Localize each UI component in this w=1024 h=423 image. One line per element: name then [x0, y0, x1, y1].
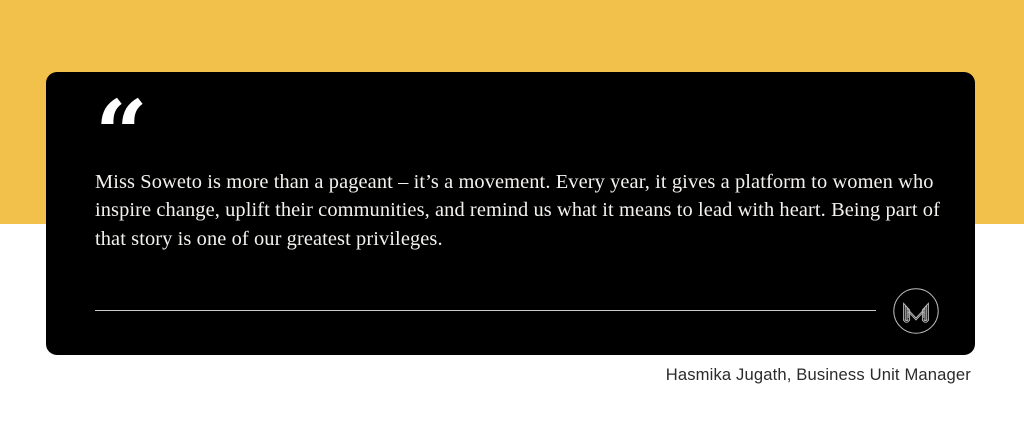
m-monogram-icon	[892, 287, 940, 335]
brand-logo	[892, 287, 940, 335]
opening-quote-icon: “	[95, 88, 215, 174]
testimonial-card: “ Miss Soweto is more than a pageant – i…	[46, 72, 975, 355]
testimonial-quote-text: Miss Soweto is more than a pageant – it’…	[95, 168, 947, 253]
attribution-caption: Hasmika Jugath, Business Unit Manager	[400, 364, 971, 386]
testimonial-slide: “ Miss Soweto is more than a pageant – i…	[0, 0, 1024, 423]
footer-divider-line	[95, 310, 876, 311]
